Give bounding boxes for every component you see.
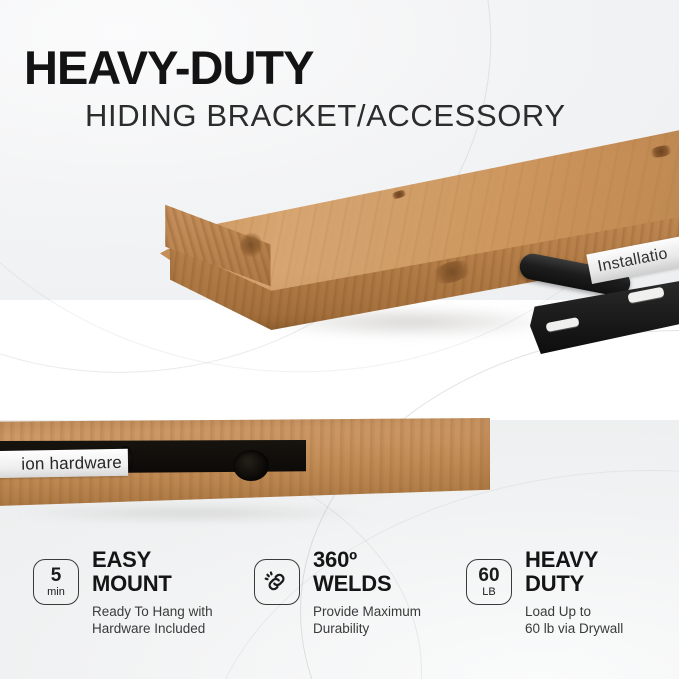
feature-description: Provide Maximum Durability: [313, 603, 421, 639]
badge-value: 5: [51, 566, 62, 585]
feature-360-welds: 360º WELDS Provide Maximum Durability: [254, 548, 421, 638]
feature-strip: 5 min EASY MOUNT Ready To Hang with Hard…: [0, 548, 679, 666]
feature-title: HEAVY DUTY: [525, 548, 623, 596]
feature-description: Load Up to 60 lb via Drywall: [525, 603, 623, 639]
badge-unit: LB: [482, 587, 495, 598]
lower-shelf-shadow: [0, 500, 480, 526]
clock-badge-icon: 5 min: [33, 559, 79, 605]
chain-link-icon: [254, 559, 300, 605]
page-title: HEAVY-DUTY: [24, 44, 313, 91]
feature-title: 360º WELDS: [313, 548, 421, 596]
installation-hardware-label-lower: ion hardware: [0, 449, 128, 478]
feature-easy-mount: 5 min EASY MOUNT Ready To Hang with Hard…: [33, 548, 213, 638]
badge-unit: min: [47, 587, 65, 598]
shelf-mounting-hole: [233, 450, 269, 481]
feature-heavy-duty: 60 LB HEAVY DUTY Load Up to 60 lb via Dr…: [466, 548, 623, 638]
badge-value: 60: [478, 566, 499, 585]
page-subtitle: HIDING BRACKET/ACCESSORY: [85, 100, 566, 131]
feature-title: EASY MOUNT: [92, 548, 213, 596]
feature-description: Ready To Hang with Hardware Included: [92, 603, 213, 639]
weight-badge-icon: 60 LB: [466, 559, 512, 605]
product-marketing-image: HEAVY-DUTY HIDING BRACKET/ACCESSORY Inst…: [0, 0, 679, 679]
